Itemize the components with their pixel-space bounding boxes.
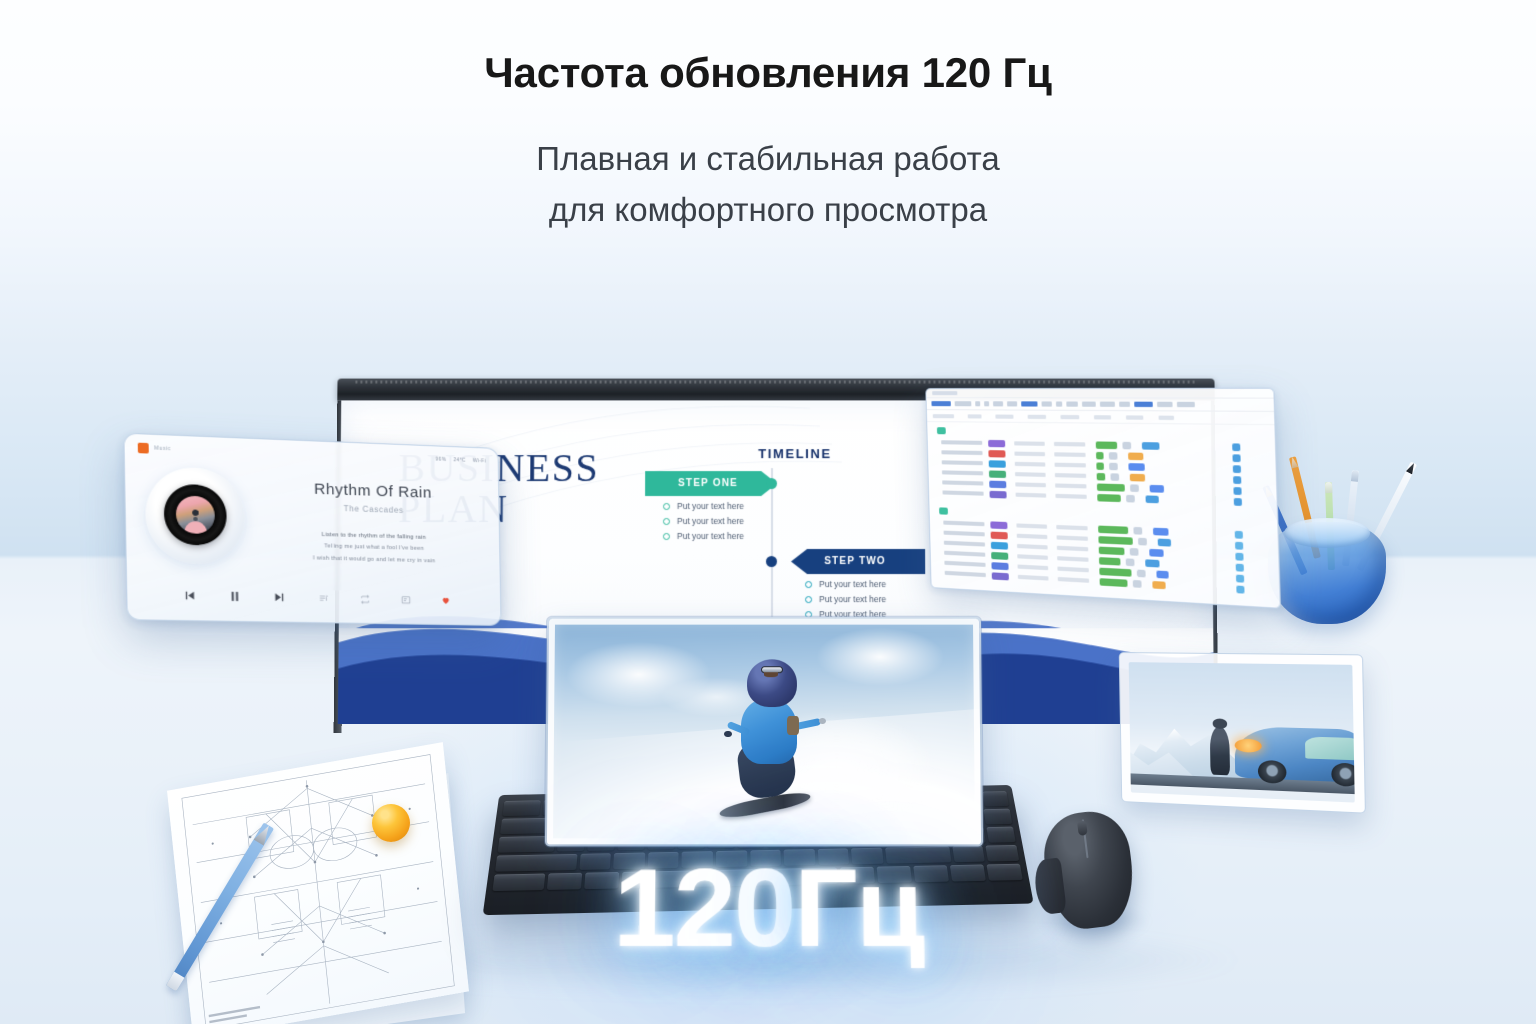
subtitle-line-1: Плавная и стабильная работа xyxy=(0,134,1536,184)
key[interactable] xyxy=(500,818,550,834)
rider-glove-left xyxy=(724,731,731,737)
column-header[interactable] xyxy=(995,414,1013,418)
photo-frame-window[interactable] xyxy=(1119,652,1366,814)
wifi-status: Wi-Fi xyxy=(473,458,486,465)
project-board-window[interactable] xyxy=(925,388,1281,609)
subtitle-line-2: для комфортного просмотра xyxy=(0,185,1536,235)
toolbar-button[interactable] xyxy=(984,401,989,406)
track-info: Rhythm Of Rain The Cascades Listen to th… xyxy=(259,470,486,570)
bullet-text: Put your text here xyxy=(677,501,744,511)
toolbar-button[interactable] xyxy=(1042,401,1052,406)
toolbar-button[interactable] xyxy=(1082,402,1096,407)
temperature-status: 24°C xyxy=(453,457,465,464)
player-body: Rhythm Of Rain The Cascades Listen to th… xyxy=(125,461,500,571)
rider-face xyxy=(764,672,779,678)
column-header[interactable] xyxy=(1094,415,1111,419)
track-artist: The Cascades xyxy=(259,501,485,517)
music-player-window[interactable]: Music 96% 24°C Wi-Fi Rhythm Of Rain The … xyxy=(123,433,501,626)
group-toggle[interactable] xyxy=(937,427,946,434)
page-subtitle: Плавная и стабильная работа для комфортн… xyxy=(0,134,1536,234)
toolbar-button[interactable] xyxy=(1177,402,1195,407)
player-brand: Music xyxy=(138,443,171,455)
album-cover-image xyxy=(176,495,215,534)
toolbar-button[interactable] xyxy=(975,401,980,406)
orange-ball xyxy=(372,804,410,842)
column-header[interactable] xyxy=(1126,415,1143,419)
step-one-dot xyxy=(766,478,777,489)
step-one-bullets: Put your text here Put your text here Pu… xyxy=(663,501,945,541)
bullet-icon xyxy=(663,518,670,525)
column-header[interactable] xyxy=(968,414,982,418)
toolbar-button[interactable] xyxy=(1066,401,1078,406)
toolbar-button[interactable] xyxy=(1119,402,1130,407)
group-toggle[interactable] xyxy=(939,507,948,514)
page-title: Частота обновления 120 Гц xyxy=(0,48,1536,98)
lyrics-panel: Listen to the rhythm of the falling rain… xyxy=(260,528,486,569)
key[interactable] xyxy=(982,791,1009,806)
column-header[interactable] xyxy=(1028,414,1047,418)
toolbar-button[interactable] xyxy=(955,401,972,406)
snowboarder-figure xyxy=(712,666,833,820)
column-header[interactable] xyxy=(933,414,954,418)
timeline-heading: TIMELINE xyxy=(645,446,945,461)
toolbar-button[interactable] xyxy=(1157,402,1173,407)
app-logo-icon xyxy=(138,443,149,454)
refresh-rate-unit: Гц xyxy=(794,844,924,972)
track-title: Rhythm Of Rain xyxy=(259,478,485,503)
toolbar-filter-button[interactable] xyxy=(1021,401,1037,406)
player-brand-label: Music xyxy=(154,445,171,452)
refresh-rate-badge: 120Гц xyxy=(0,844,1536,972)
key[interactable] xyxy=(986,827,1015,843)
bullet-item: Put your text here xyxy=(663,501,945,511)
bullet-text: Put your text here xyxy=(677,516,744,526)
marketing-copy: Частота обновления 120 Гц Плавная и стаб… xyxy=(0,48,1536,235)
bullet-icon xyxy=(663,503,670,510)
previous-track-icon[interactable] xyxy=(182,589,196,603)
video-playback-window[interactable] xyxy=(547,619,981,845)
person-figure xyxy=(1210,727,1231,776)
sheet-group xyxy=(927,422,1277,514)
pencil-holder xyxy=(1268,500,1390,624)
next-track-icon[interactable] xyxy=(273,590,287,604)
car-window xyxy=(1305,736,1355,760)
glass-cup-rim xyxy=(1284,518,1370,548)
album-art[interactable] xyxy=(145,466,246,565)
toolbar-primary-button[interactable] xyxy=(931,401,950,406)
lyrics-icon[interactable] xyxy=(401,595,411,605)
step-one-label: STEP ONE xyxy=(645,478,777,489)
sheet-tab[interactable] xyxy=(932,391,957,395)
rider-backpack xyxy=(787,716,799,735)
rider-helmet xyxy=(747,660,797,707)
column-header[interactable] xyxy=(1159,415,1175,419)
refresh-rate-number: 120 xyxy=(612,844,794,972)
play-pause-icon[interactable] xyxy=(228,590,242,604)
timeline-step-one[interactable]: STEP ONE Put your text here Put your tex… xyxy=(645,471,945,541)
key[interactable] xyxy=(502,800,541,816)
toolbar-share-button[interactable] xyxy=(1134,402,1153,407)
status-indicators: 96% 24°C Wi-Fi xyxy=(435,456,486,464)
bullet-item: Put your text here xyxy=(663,516,945,526)
rider-torso xyxy=(741,699,797,763)
repeat-icon[interactable] xyxy=(360,594,370,604)
column-header[interactable] xyxy=(1060,414,1079,418)
toolbar-button[interactable] xyxy=(1100,402,1115,407)
mouse-scroll-wheel[interactable] xyxy=(1077,820,1088,836)
toolbar-button[interactable] xyxy=(1056,401,1062,406)
player-controls xyxy=(127,588,500,608)
toolbar-button[interactable] xyxy=(1007,401,1017,406)
playlist-icon[interactable] xyxy=(319,593,330,603)
toolbar-button[interactable] xyxy=(993,401,1003,406)
rider-glove-right xyxy=(818,718,825,724)
car xyxy=(1234,726,1355,782)
battery-status: 96% xyxy=(435,456,446,462)
key[interactable] xyxy=(984,809,1013,825)
favorite-icon[interactable] xyxy=(441,596,450,605)
photo-image xyxy=(1129,662,1355,802)
step-one-chevron: STEP ONE xyxy=(645,471,777,496)
car-wheel xyxy=(1258,760,1286,784)
